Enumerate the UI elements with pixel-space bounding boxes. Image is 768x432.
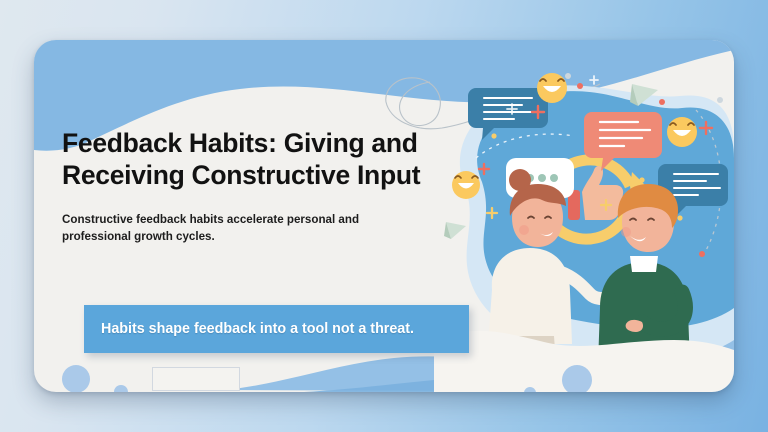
highlight-callout-text: Habits shape feedback into a tool not a … <box>101 320 414 339</box>
highlight-callout: Habits shape feedback into a tool not a … <box>84 305 469 353</box>
placeholder-circle-small-left <box>114 385 128 392</box>
slide-card: Feedback Habits: Giving and Receiving Co… <box>34 40 734 392</box>
headline-block: Feedback Habits: Giving and Receiving Co… <box>62 128 477 245</box>
placeholder-rect-top <box>152 367 240 391</box>
placeholder-circle-large-left <box>62 365 90 392</box>
slide-subtitle: Constructive feedback habits accelerate … <box>62 212 412 245</box>
feedback-illustration <box>434 40 734 392</box>
feedback-illustration-svg <box>434 40 734 392</box>
smiley-emoji-top-icon <box>537 73 567 103</box>
smiley-emoji-right-icon <box>667 117 697 147</box>
page-title: Feedback Habits: Giving and Receiving Co… <box>62 128 477 191</box>
